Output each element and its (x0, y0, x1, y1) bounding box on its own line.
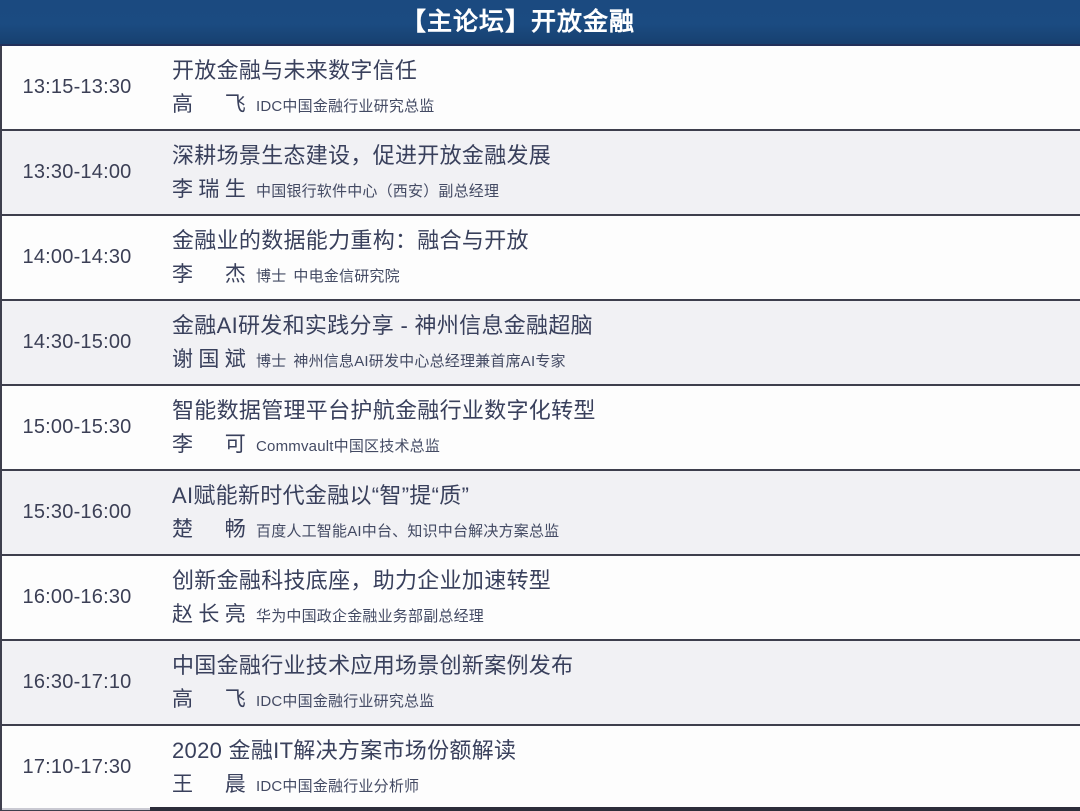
session-topic: 金融业的数据能力重构：融合与开放 (172, 227, 1066, 255)
table-row: 15:30-16:00AI赋能新时代金融以“智”提“质”楚畅百度人工智能AI中台… (0, 471, 1080, 556)
speaker-line: 楚畅百度人工智能AI中台、知识中台解决方案总监 (172, 513, 1066, 543)
speaker-name: 李杰 (172, 258, 246, 288)
table-row: 17:10-17:302020 金融IT解决方案市场份额解读王晨IDC中国金融行… (0, 726, 1080, 811)
table-row: 14:30-15:00金融AI研发和实践分享 - 神州信息金融超脑谢国斌博士神州… (0, 301, 1080, 386)
speaker-degree: 博士 (256, 350, 286, 371)
session-info-cell: 金融业的数据能力重构：融合与开放李杰博士中电金信研究院 (160, 216, 1080, 299)
speaker-name: 李可 (172, 428, 246, 458)
session-time-cell: 14:30-15:00 (0, 301, 160, 384)
speaker-name: 楚畅 (172, 513, 246, 543)
session-topic: 深耕场景生态建设，促进开放金融发展 (172, 142, 1066, 170)
table-row: 16:00-16:30创新金融科技底座，助力企业加速转型赵长亮华为中国政企金融业… (0, 556, 1080, 641)
session-info-cell: 金融AI研发和实践分享 - 神州信息金融超脑谢国斌博士神州信息AI研发中心总经理… (160, 301, 1080, 384)
agenda-row-list: 13:15-13:30开放金融与未来数字信任高飞IDC中国金融行业研究总监13:… (0, 46, 1080, 811)
session-time: 14:00-14:30 (23, 246, 132, 269)
speaker-line: 李可Commvault中国区技术总监 (172, 428, 1066, 458)
speaker-name: 高飞 (172, 683, 246, 713)
session-info-cell: 深耕场景生态建设，促进开放金融发展李瑞生中国银行软件中心（西安）副总经理 (160, 131, 1080, 214)
forum-header-bar: 【主论坛】开放金融 (0, 0, 1080, 46)
session-time-cell: 16:00-16:30 (0, 556, 160, 639)
speaker-line: 赵长亮华为中国政企金融业务部副总经理 (172, 598, 1066, 628)
table-row: 13:30-14:00深耕场景生态建设，促进开放金融发展李瑞生中国银行软件中心（… (0, 131, 1080, 216)
footer-divider (0, 807, 1080, 811)
session-topic: 创新金融科技底座，助力企业加速转型 (172, 567, 1066, 595)
session-time: 16:30-17:10 (23, 671, 132, 694)
speaker-affiliation: 华为中国政企金融业务部副总经理 (256, 605, 484, 626)
session-topic: 开放金融与未来数字信任 (172, 57, 1066, 85)
footer-divider-light (0, 808, 150, 810)
speaker-line: 李杰博士中电金信研究院 (172, 258, 1066, 288)
session-time: 13:30-14:00 (23, 161, 132, 184)
speaker-name: 王晨 (172, 768, 246, 798)
table-row: 14:00-14:30金融业的数据能力重构：融合与开放李杰博士中电金信研究院 (0, 216, 1080, 301)
session-time-cell: 17:10-17:30 (0, 726, 160, 809)
table-row: 15:00-15:30智能数据管理平台护航金融行业数字化转型李可Commvaul… (0, 386, 1080, 471)
session-topic: 2020 金融IT解决方案市场份额解读 (172, 737, 1066, 765)
speaker-affiliation: 百度人工智能AI中台、知识中台解决方案总监 (256, 520, 559, 541)
speaker-affiliation: 中国银行软件中心（西安）副总经理 (256, 180, 499, 201)
session-time: 16:00-16:30 (23, 586, 132, 609)
agenda-schedule-panel: 【主论坛】开放金融 13:15-13:30开放金融与未来数字信任高飞IDC中国金… (0, 0, 1080, 811)
speaker-name: 赵长亮 (172, 598, 246, 628)
session-time-cell: 13:30-14:00 (0, 131, 160, 214)
speaker-line: 高飞IDC中国金融行业研究总监 (172, 88, 1066, 118)
table-row: 16:30-17:10中国金融行业技术应用场景创新案例发布高飞IDC中国金融行业… (0, 641, 1080, 726)
speaker-line: 李瑞生中国银行软件中心（西安）副总经理 (172, 173, 1066, 203)
session-time: 13:15-13:30 (23, 76, 132, 99)
speaker-line: 谢国斌博士神州信息AI研发中心总经理兼首席AI专家 (172, 343, 1066, 373)
table-row: 13:15-13:30开放金融与未来数字信任高飞IDC中国金融行业研究总监 (0, 46, 1080, 131)
session-info-cell: 创新金融科技底座，助力企业加速转型赵长亮华为中国政企金融业务部副总经理 (160, 556, 1080, 639)
session-time: 14:30-15:00 (23, 331, 132, 354)
session-time: 15:00-15:30 (23, 416, 132, 439)
session-info-cell: 2020 金融IT解决方案市场份额解读王晨IDC中国金融行业分析师 (160, 726, 1080, 809)
session-time-cell: 14:00-14:30 (0, 216, 160, 299)
speaker-affiliation: IDC中国金融行业研究总监 (256, 95, 434, 116)
footer-divider-dark (150, 807, 1080, 811)
speaker-name: 谢国斌 (172, 343, 246, 373)
session-topic: 智能数据管理平台护航金融行业数字化转型 (172, 397, 1066, 425)
speaker-line: 王晨IDC中国金融行业分析师 (172, 768, 1066, 798)
session-topic: 金融AI研发和实践分享 - 神州信息金融超脑 (172, 312, 1066, 340)
speaker-affiliation: Commvault中国区技术总监 (256, 435, 440, 456)
speaker-affiliation: IDC中国金融行业分析师 (256, 775, 419, 796)
speaker-affiliation: 神州信息AI研发中心总经理兼首席AI专家 (293, 350, 565, 371)
speaker-affiliation: 中电金信研究院 (293, 265, 399, 286)
session-topic: 中国金融行业技术应用场景创新案例发布 (172, 652, 1066, 680)
session-info-cell: 智能数据管理平台护航金融行业数字化转型李可Commvault中国区技术总监 (160, 386, 1080, 469)
page-title: 【主论坛】开放金融 (401, 10, 635, 35)
session-topic: AI赋能新时代金融以“智”提“质” (172, 482, 1066, 510)
speaker-degree: 博士 (256, 265, 286, 286)
speaker-name: 高飞 (172, 88, 246, 118)
speaker-line: 高飞IDC中国金融行业研究总监 (172, 683, 1066, 713)
session-info-cell: AI赋能新时代金融以“智”提“质”楚畅百度人工智能AI中台、知识中台解决方案总监 (160, 471, 1080, 554)
session-time-cell: 13:15-13:30 (0, 46, 160, 129)
session-time-cell: 15:30-16:00 (0, 471, 160, 554)
speaker-name: 李瑞生 (172, 173, 246, 203)
speaker-affiliation: IDC中国金融行业研究总监 (256, 690, 434, 711)
session-info-cell: 中国金融行业技术应用场景创新案例发布高飞IDC中国金融行业研究总监 (160, 641, 1080, 724)
session-time: 17:10-17:30 (23, 756, 132, 779)
session-time: 15:30-16:00 (23, 501, 132, 524)
session-time-cell: 16:30-17:10 (0, 641, 160, 724)
session-time-cell: 15:00-15:30 (0, 386, 160, 469)
session-info-cell: 开放金融与未来数字信任高飞IDC中国金融行业研究总监 (160, 46, 1080, 129)
